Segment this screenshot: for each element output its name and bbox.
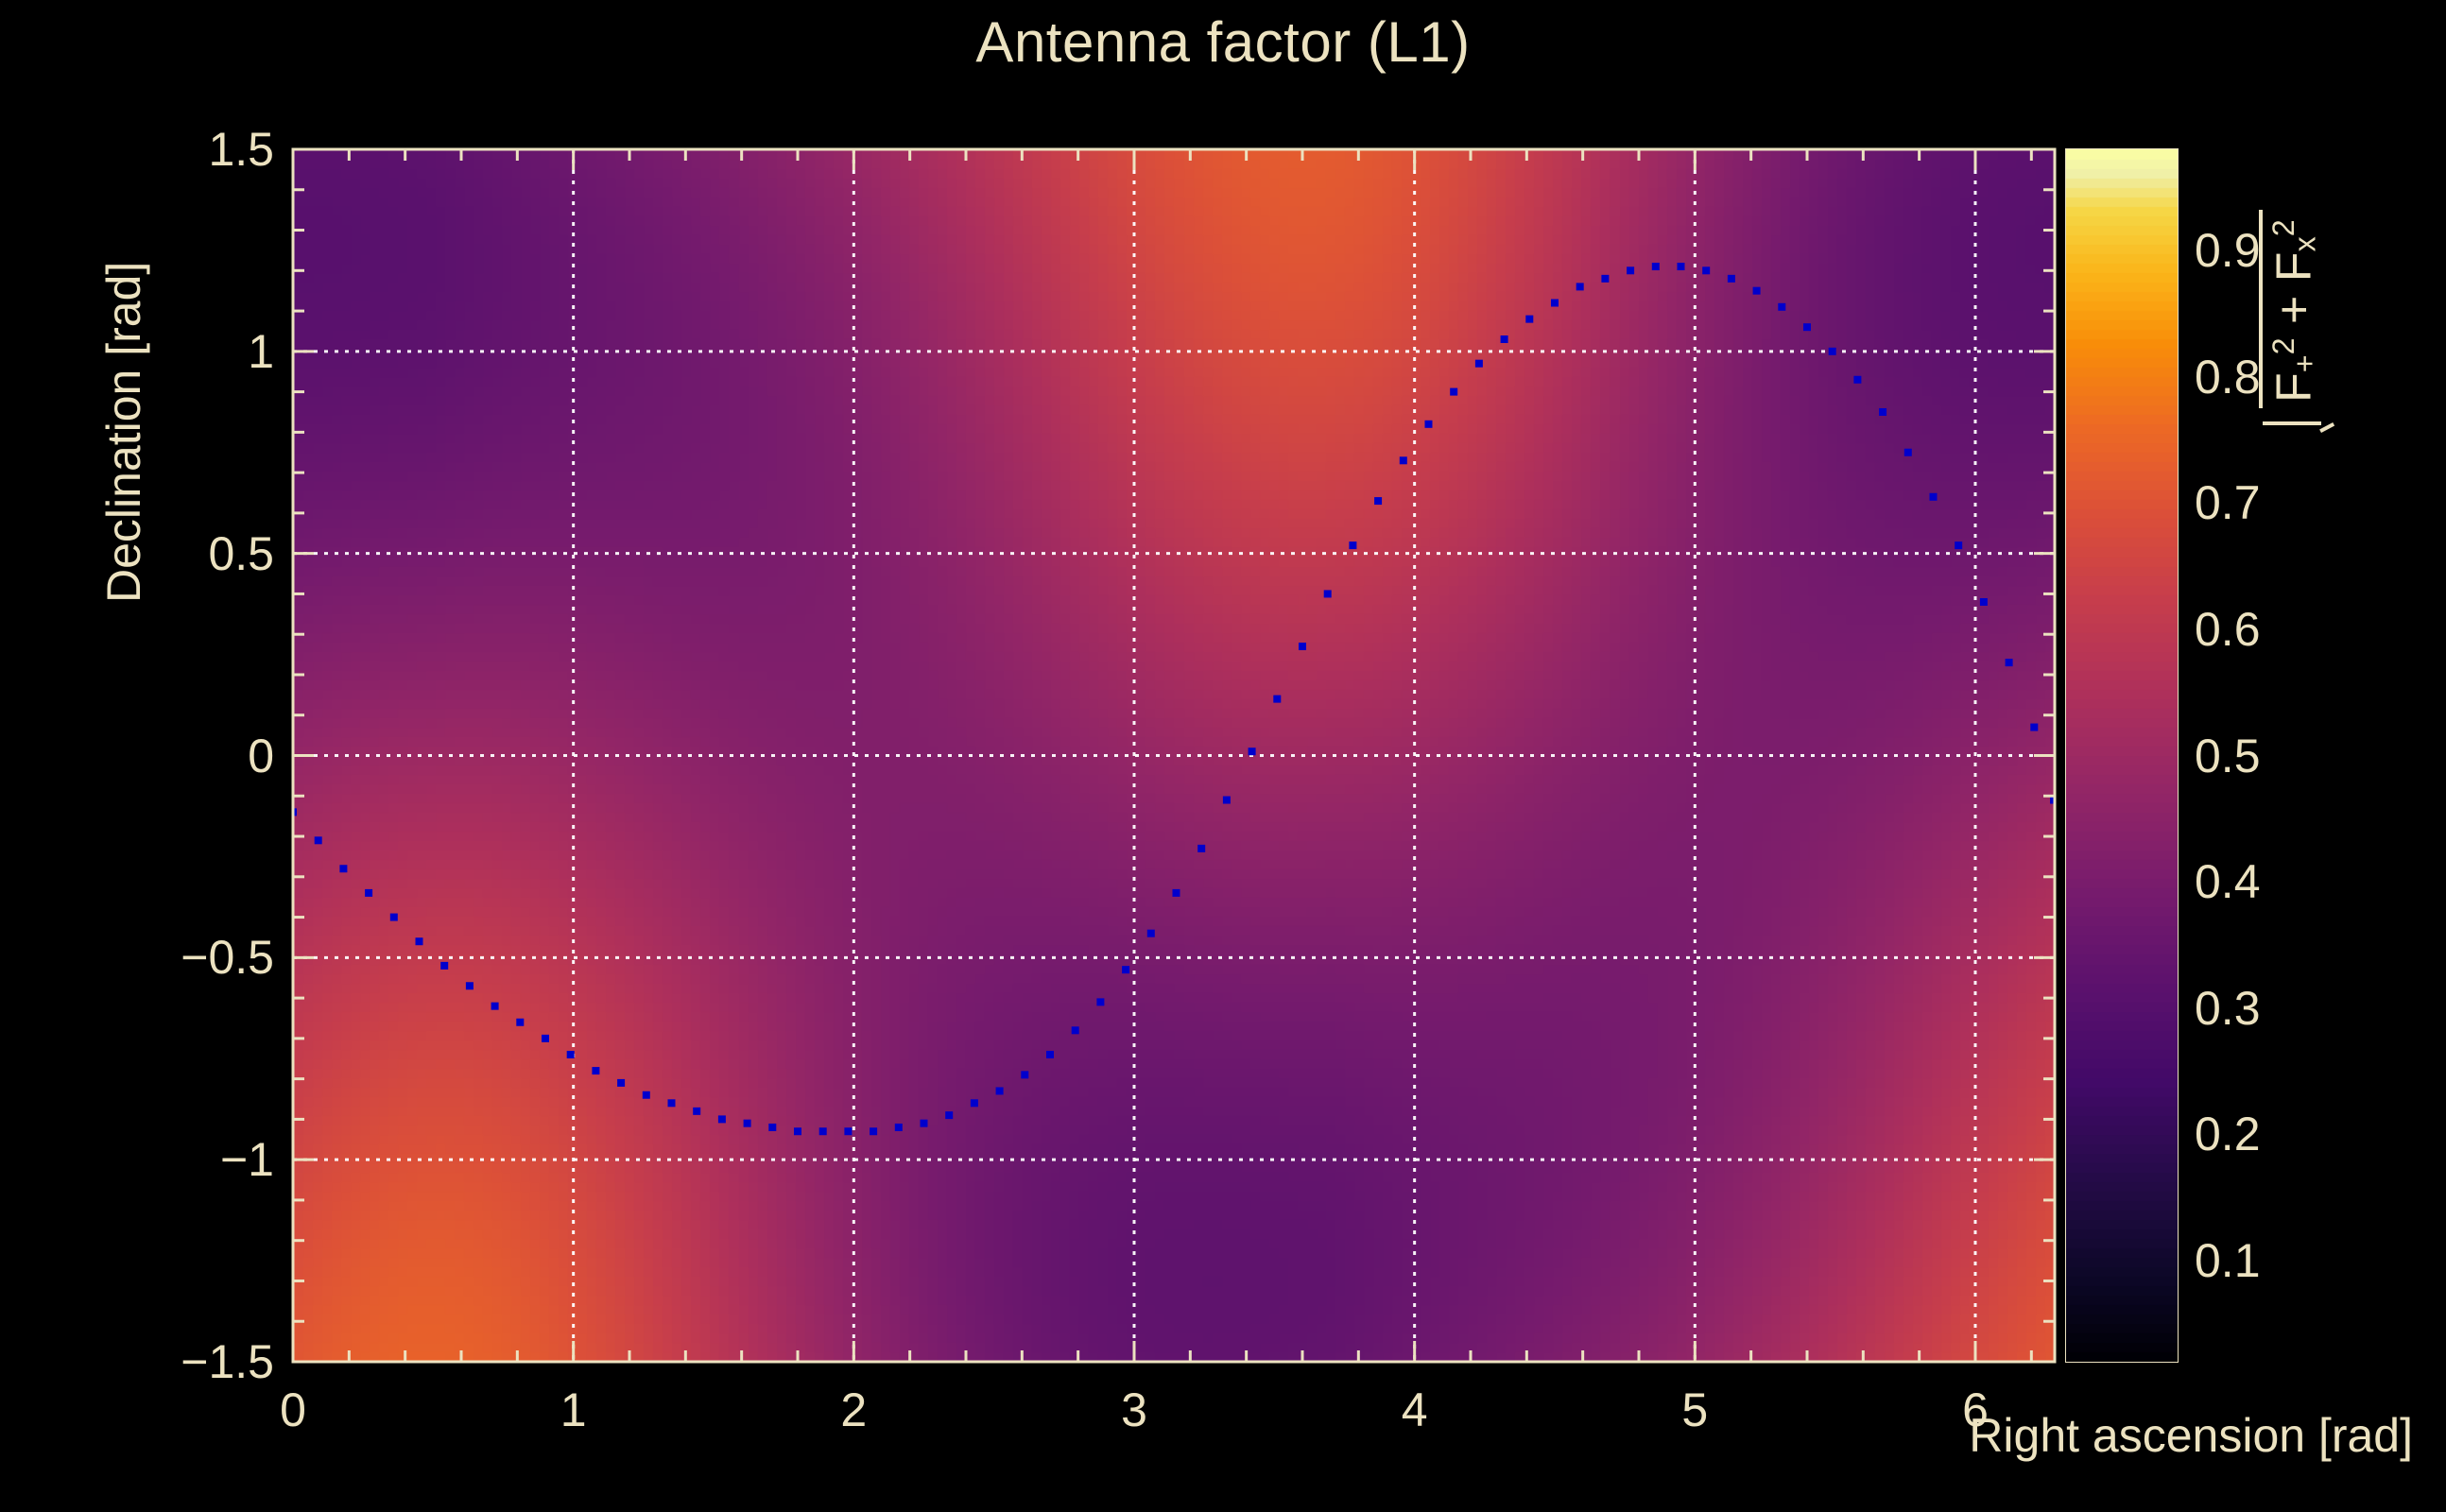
y-tick-label-4: 0.5 (151, 526, 274, 581)
y-axis-title: Declination [rad] (96, 262, 151, 603)
term1-sup: 2 (2266, 337, 2300, 354)
z-tick-label-6: 0.3 (2195, 981, 2261, 1036)
radical-icon (2259, 408, 2321, 433)
term2-sub: x (2288, 236, 2322, 251)
x-tick-label-2: 2 (840, 1383, 867, 1437)
z-tick-label-2: 0.7 (2195, 475, 2261, 530)
y-tick-label-6: 1.5 (151, 122, 274, 177)
term1-base: F (2267, 372, 2322, 403)
z-operator: + (2267, 296, 2322, 324)
x-tick-label-5: 5 (1681, 1383, 1708, 1437)
z-tick-label-1: 0.8 (2195, 350, 2261, 404)
x-tick-label-1: 1 (560, 1383, 587, 1437)
y-tick-label-5: 1 (151, 324, 274, 379)
z-tick-label-5: 0.4 (2195, 854, 2261, 909)
y-tick-label-0: −1.5 (151, 1334, 274, 1389)
term1-sub: + (2288, 354, 2322, 372)
x-tick-label-6: 6 (1962, 1383, 1989, 1437)
term2-sup: 2 (2266, 219, 2300, 236)
y-tick-label-2: −0.5 (151, 930, 274, 985)
galactic-plane-overlay (293, 149, 2055, 1362)
page-title: Antenna factor (L1) (0, 9, 2446, 75)
heatmap-plot-area[interactable] (293, 149, 2055, 1362)
z-tick-label-8: 0.1 (2195, 1233, 2261, 1288)
z-axis-title: F+2 + Fx2 (2259, 210, 2334, 433)
y-tick-label-1: −1 (151, 1132, 274, 1187)
y-tick-label-3: 0 (151, 729, 274, 783)
z-tick-label-4: 0.5 (2195, 729, 2261, 783)
color-bar-ticks (2066, 149, 2178, 1362)
term2-base: F (2267, 251, 2322, 282)
sqrt-expression: F+2 + Fx2 (2259, 210, 2321, 433)
x-tick-label-3: 3 (1121, 1383, 1147, 1437)
x-tick-label-0: 0 (280, 1383, 306, 1437)
x-tick-label-4: 4 (1402, 1383, 1428, 1437)
z-tick-label-0: 0.9 (2195, 223, 2261, 278)
z-tick-label-7: 0.2 (2195, 1107, 2261, 1161)
root-canvas: Antenna factor (L1) Right ascension [rad… (0, 0, 2446, 1512)
z-tick-label-3: 0.6 (2195, 602, 2261, 657)
sqrt-radicand: F+2 + Fx2 (2259, 210, 2321, 408)
x-axis-title: Right ascension [rad] (1969, 1408, 2413, 1463)
color-bar[interactable] (2066, 149, 2178, 1362)
